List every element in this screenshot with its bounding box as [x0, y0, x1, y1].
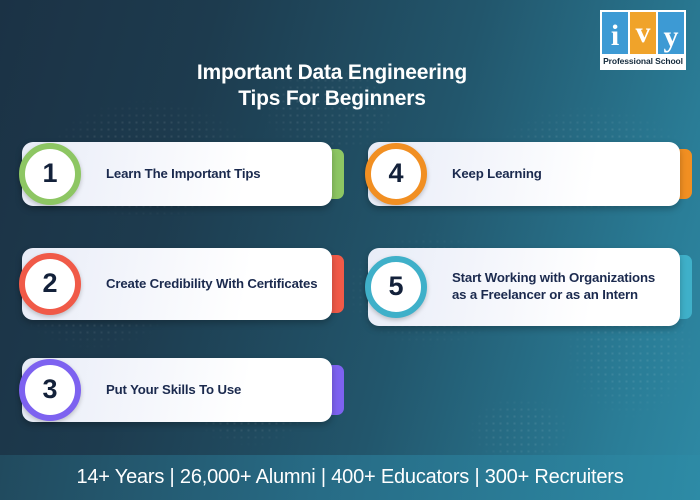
tip-card-4-number-badge: 4	[365, 143, 427, 205]
tip-card-1-label: Learn The Important Tips	[106, 166, 274, 183]
tip-card-3-label: Put Your Skills To Use	[106, 382, 255, 399]
footer-stats-text: 14+ Years | 26,000+ Alumni | 400+ Educat…	[76, 466, 623, 489]
footer-stats-bar: 14+ Years | 26,000+ Alumni | 400+ Educat…	[0, 455, 700, 500]
page-title: Important Data Engineering Tips For Begi…	[0, 60, 700, 111]
tip-card-4[interactable]: 4 Keep Learning	[368, 142, 680, 206]
tip-card-2-number-badge: 2	[19, 253, 81, 315]
tip-card-2-body: 2 Create Credibility With Certificates	[22, 248, 332, 320]
tip-card-5[interactable]: 5 Start Working with Organizations as a …	[368, 248, 680, 326]
logo-letter-y: y	[658, 12, 684, 54]
tip-card-3-number: 3	[42, 376, 57, 403]
tip-card-5-body: 5 Start Working with Organizations as a …	[368, 248, 680, 326]
tip-card-3[interactable]: 3 Put Your Skills To Use	[22, 358, 332, 422]
logo-letter-i-glyph: i	[611, 21, 619, 51]
tip-card-2[interactable]: 2 Create Credibility With Certificates	[22, 248, 332, 320]
tip-card-1-body: 1 Learn The Important Tips	[22, 142, 332, 206]
page-title-line-2: Tips For Beginners	[0, 86, 664, 112]
tip-card-1[interactable]: 1 Learn The Important Tips	[22, 142, 332, 206]
tip-card-1-number: 1	[42, 160, 57, 187]
tip-card-3-body: 3 Put Your Skills To Use	[22, 358, 332, 422]
logo-letter-y-glyph: y	[664, 22, 679, 52]
logo-letter-v-glyph: v	[636, 18, 651, 48]
tip-card-5-label: Start Working with Organizations as a Fr…	[452, 270, 680, 304]
logo-letter-i: i	[602, 12, 630, 54]
logo-letter-v: v	[630, 12, 658, 54]
tip-card-2-number: 2	[42, 270, 57, 297]
tip-card-5-number-badge: 5	[365, 256, 427, 318]
tip-card-3-number-badge: 3	[19, 359, 81, 421]
page-title-line-1: Important Data Engineering	[0, 60, 664, 86]
tip-card-4-number: 4	[388, 160, 403, 187]
tip-card-5-number: 5	[388, 273, 403, 300]
tip-card-4-body: 4 Keep Learning	[368, 142, 680, 206]
infographic-canvas: i v y Professional School Important Data…	[0, 0, 700, 500]
logo-letter-blocks: i v y	[600, 10, 686, 54]
tip-card-4-label: Keep Learning	[452, 166, 556, 183]
tip-card-2-label: Create Credibility With Certificates	[106, 276, 331, 293]
tip-card-1-number-badge: 1	[19, 143, 81, 205]
